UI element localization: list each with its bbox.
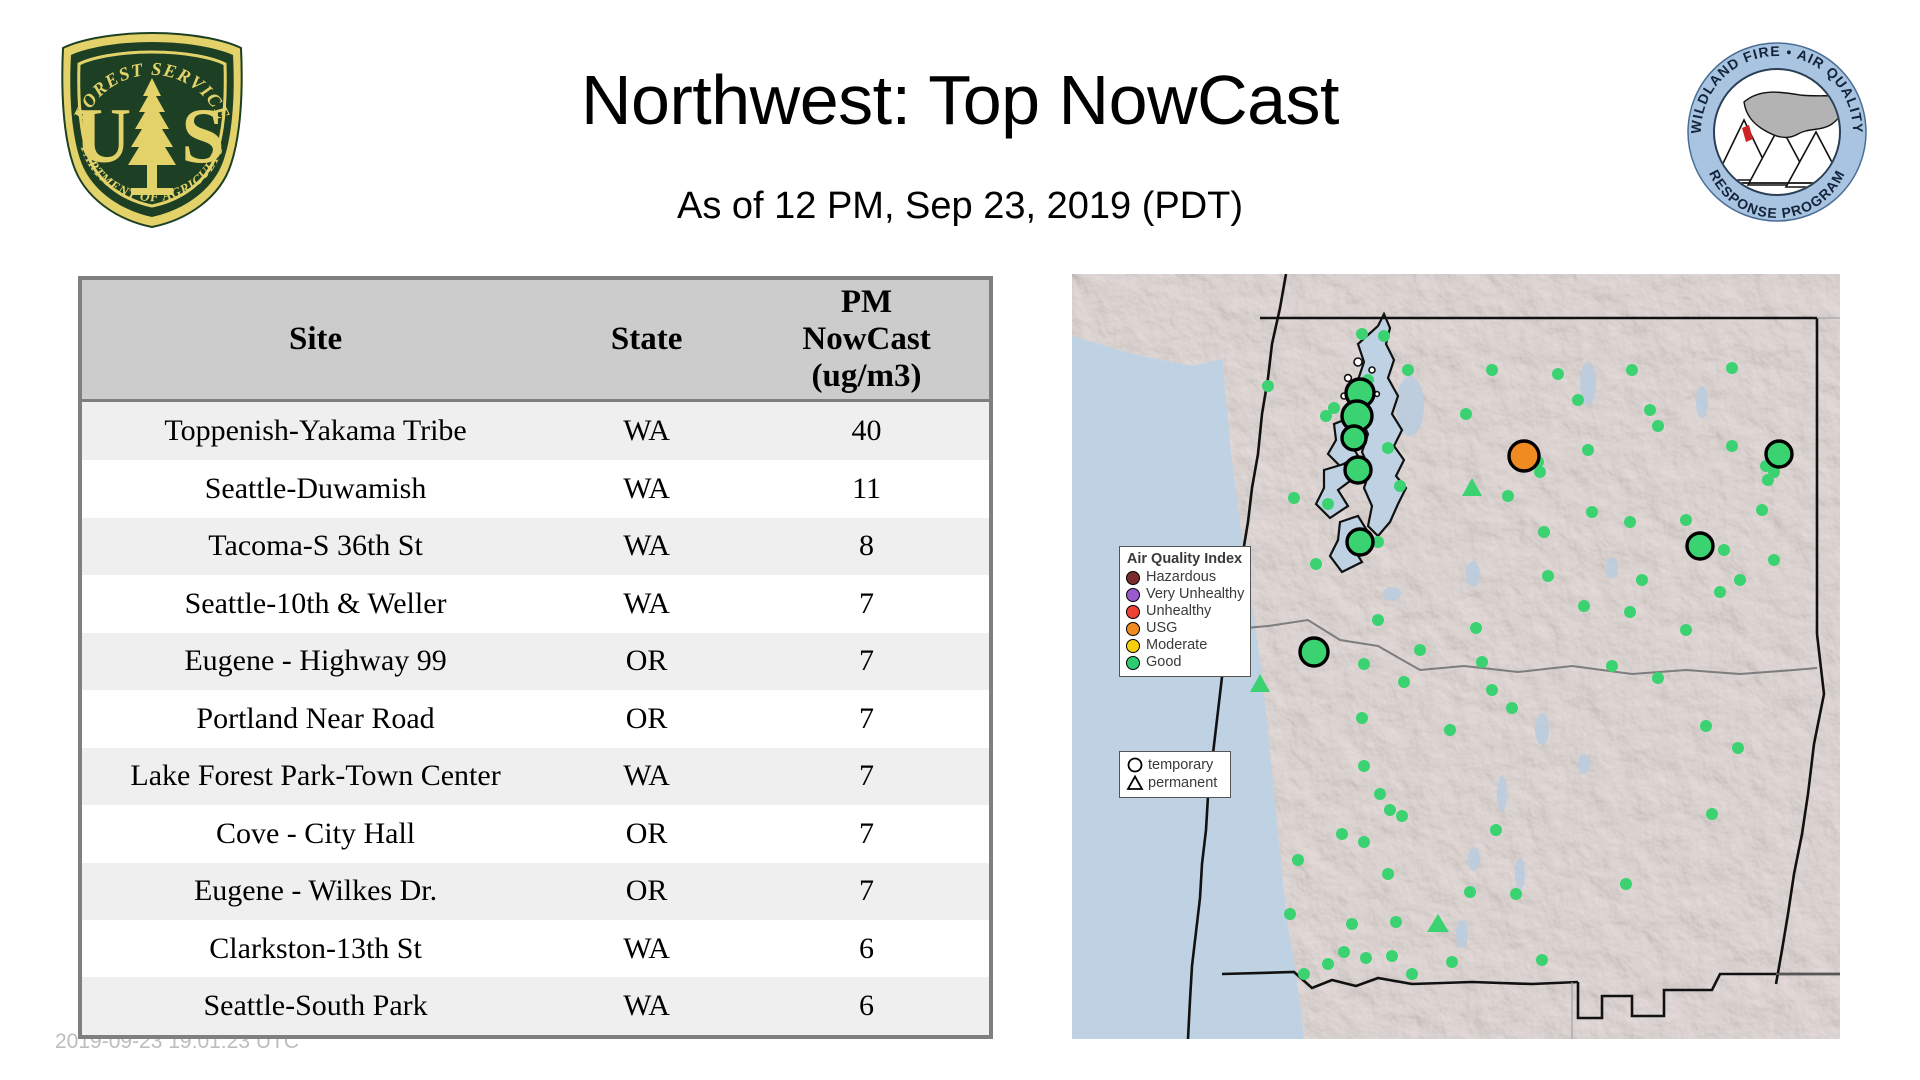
top-nowcast-table: Site State PM NowCast (ug/m3) Toppenish-…	[78, 276, 993, 1039]
usda-forest-service-shield-icon: FOREST SERVICE U S DEPARTMENT OF AGRICUL…	[55, 30, 250, 230]
site-cell: Eugene - Highway 99	[82, 633, 549, 690]
table-row: Toppenish-Yakama TribeWA40	[82, 400, 989, 460]
legend-item-temporary: temporary	[1126, 756, 1223, 774]
legend-item-good: Good	[1126, 654, 1243, 671]
column-header-state: State	[549, 280, 744, 400]
legend-swatch-icon	[1126, 622, 1140, 636]
state-cell: WA	[549, 518, 744, 575]
table-row: Portland Near RoadOR7	[82, 690, 989, 747]
legend-item-very-unhealthy: Very Unhealthy	[1126, 586, 1243, 603]
table-row: Cove - City HallOR7	[82, 805, 989, 862]
map-panel[interactable]: Air Quality Index HazardousVery Unhealth…	[1072, 274, 1840, 1039]
pm-nowcast-cell: 7	[744, 575, 989, 632]
pm-nowcast-cell: 6	[744, 920, 989, 977]
site-cell: Clarkston-13th St	[82, 920, 549, 977]
site-cell: Lake Forest Park-Town Center	[82, 748, 549, 805]
monitor-type-legend: temporary permanent	[1119, 751, 1231, 798]
state-cell: OR	[549, 805, 744, 862]
table-row: Eugene - Wilkes Dr.OR7	[82, 863, 989, 920]
pm-nowcast-cell: 7	[744, 748, 989, 805]
table-row: Lake Forest Park-Town CenterWA7	[82, 748, 989, 805]
legend-rows: HazardousVery UnhealthyUnhealthyUSGModer…	[1126, 569, 1243, 671]
legend-item-usg: USG	[1126, 620, 1243, 637]
pm-nowcast-cell: 7	[744, 863, 989, 920]
page-title: Northwest: Top NowCast	[300, 60, 1620, 140]
legend-item-permanent: permanent	[1126, 774, 1223, 792]
pm-nowcast-cell: 7	[744, 805, 989, 862]
legend-swatch-icon	[1126, 639, 1140, 653]
legend-item-hazardous: Hazardous	[1126, 569, 1243, 586]
legend-label: Hazardous	[1146, 570, 1216, 585]
circle-icon	[1126, 756, 1144, 774]
triangle-icon	[1126, 774, 1144, 792]
state-cell: OR	[549, 633, 744, 690]
legend-swatch-icon	[1126, 571, 1140, 585]
table-row: Eugene - Highway 99OR7	[82, 633, 989, 690]
state-cell: WA	[549, 920, 744, 977]
pm-nowcast-cell: 8	[744, 518, 989, 575]
table-row: Tacoma-S 36th StWA8	[82, 518, 989, 575]
pm-nowcast-cell: 7	[744, 690, 989, 747]
slide-canvas: FOREST SERVICE U S DEPARTMENT OF AGRICUL…	[0, 0, 1920, 1080]
monitor-usg-toppenish	[1509, 441, 1539, 471]
column-header-pm-line3: (ug/m3)	[812, 358, 922, 394]
state-cell: WA	[549, 748, 744, 805]
column-header-pm-line1: PM	[841, 284, 892, 320]
state-cell: OR	[549, 863, 744, 920]
column-header-pm-line2: NowCast	[802, 321, 930, 357]
legend-item-moderate: Moderate	[1126, 637, 1243, 654]
column-header-site: Site	[82, 280, 549, 400]
legend-label-temporary: temporary	[1148, 758, 1213, 773]
site-cell: Tacoma-S 36th St	[82, 518, 549, 575]
site-cell: Portland Near Road	[82, 690, 549, 747]
air-quality-index-legend: Air Quality Index HazardousVery Unhealth…	[1119, 546, 1251, 677]
table-row: Seattle-DuwamishWA11	[82, 460, 989, 517]
state-cell: WA	[549, 575, 744, 632]
table-row: Seattle-10th & WellerWA7	[82, 575, 989, 632]
pm-nowcast-cell: 6	[744, 977, 989, 1035]
page-subtitle: As of 12 PM, Sep 23, 2019 (PDT)	[300, 185, 1620, 228]
wildland-fire-air-quality-seal-icon: WILDLAND FIRE • AIR QUALITY RESPONSE PRO…	[1682, 40, 1872, 225]
state-cell: WA	[549, 400, 744, 460]
table-header-row: Site State PM NowCast (ug/m3)	[82, 280, 989, 400]
site-cell: Seattle-10th & Weller	[82, 575, 549, 632]
legend-swatch-icon	[1126, 605, 1140, 619]
legend-swatch-icon	[1126, 588, 1140, 602]
pm-nowcast-cell: 40	[744, 400, 989, 460]
legend-label: Good	[1146, 655, 1181, 670]
legend-label: Very Unhealthy	[1146, 587, 1244, 602]
site-cell: Toppenish-Yakama Tribe	[82, 400, 549, 460]
table-row: Seattle-South ParkWA6	[82, 977, 989, 1035]
legend-title: Air Quality Index	[1126, 551, 1243, 567]
table-row: Clarkston-13th StWA6	[82, 920, 989, 977]
legend-label: USG	[1146, 621, 1177, 636]
table-body: Toppenish-Yakama TribeWA40Seattle-Duwami…	[82, 400, 989, 1035]
site-cell: Eugene - Wilkes Dr.	[82, 863, 549, 920]
state-cell: WA	[549, 460, 744, 517]
legend-label-permanent: permanent	[1148, 776, 1217, 791]
site-cell: Cove - City Hall	[82, 805, 549, 862]
pm-nowcast-cell: 7	[744, 633, 989, 690]
state-cell: OR	[549, 690, 744, 747]
site-cell: Seattle-South Park	[82, 977, 549, 1035]
legend-label: Moderate	[1146, 638, 1207, 653]
legend-swatch-icon	[1126, 656, 1140, 670]
pm-nowcast-cell: 11	[744, 460, 989, 517]
legend-item-unhealthy: Unhealthy	[1126, 603, 1243, 620]
state-cell: WA	[549, 977, 744, 1035]
column-header-pm-nowcast: PM NowCast (ug/m3)	[744, 280, 989, 400]
legend-label: Unhealthy	[1146, 604, 1211, 619]
site-cell: Seattle-Duwamish	[82, 460, 549, 517]
